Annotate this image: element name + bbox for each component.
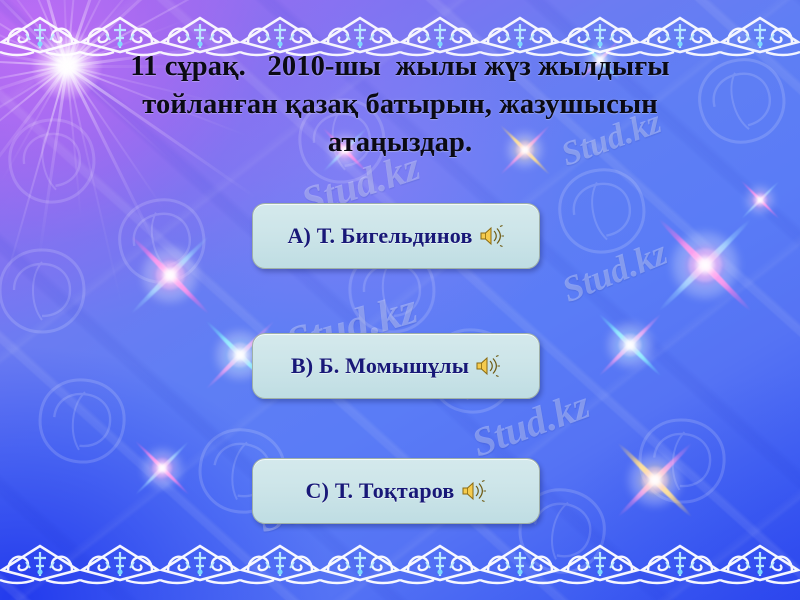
answer-label-a: А) Т. Бигельдинов	[287, 223, 472, 249]
answer-options: А) Т. Бигельдинов В) Б. Момышұлы С) Т. Т…	[0, 0, 800, 600]
answer-option-b[interactable]: В) Б. Момышұлы	[252, 333, 540, 399]
answer-label-c: С) Т. Тоқтаров	[306, 478, 455, 504]
quiz-slide: Stud.kzStud.kzStud.kzStud.kzStud.kzStud.…	[0, 0, 800, 600]
speaker-icon[interactable]	[461, 480, 487, 502]
answer-option-a[interactable]: А) Т. Бигельдинов	[252, 203, 540, 269]
speaker-icon[interactable]	[475, 355, 501, 377]
speaker-icon[interactable]	[479, 225, 505, 247]
answer-option-c[interactable]: С) Т. Тоқтаров	[252, 458, 540, 524]
answer-label-b: В) Б. Момышұлы	[291, 353, 469, 379]
